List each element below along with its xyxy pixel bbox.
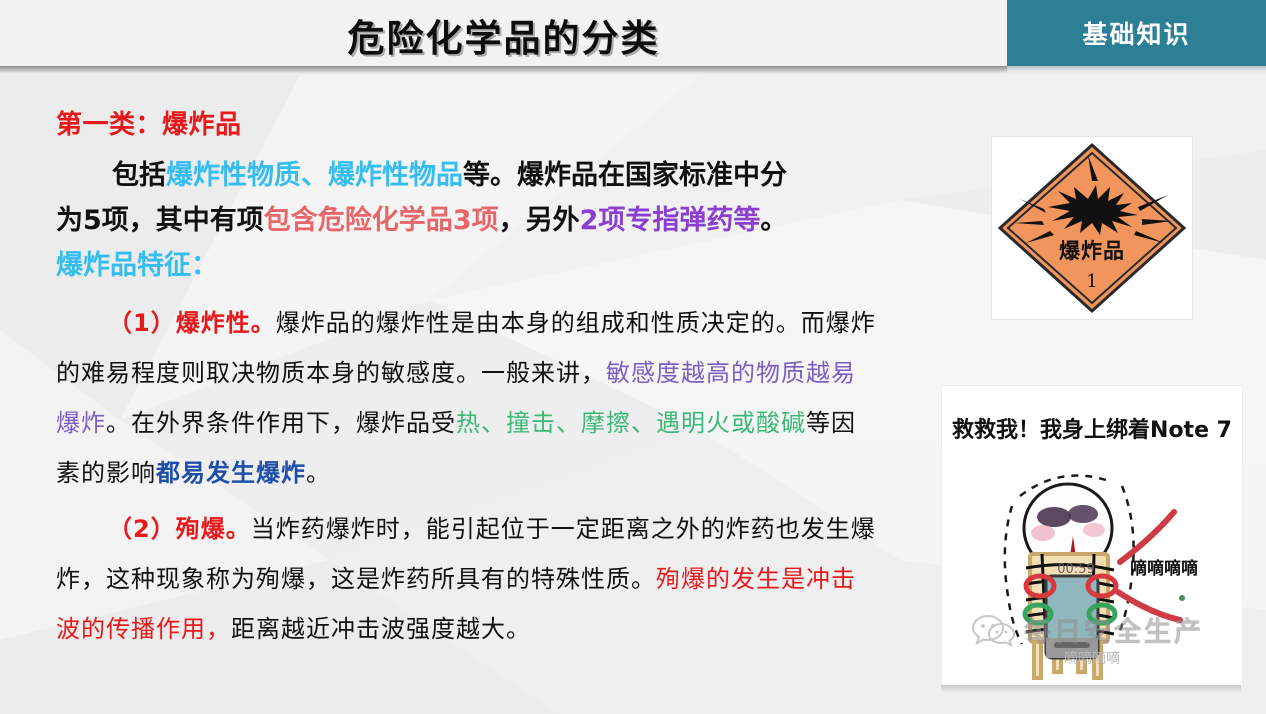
item2-t5: 距离越近冲击波强度越大。 (231, 615, 531, 643)
item1-t8: 素的影响 (56, 459, 156, 487)
header-tag-shadow (1007, 66, 1266, 73)
paragraph-item-1: （1）爆炸性。爆炸品的爆炸性是由本身的组成和性质决定的。而爆炸 的难易程度则取决… (56, 298, 946, 498)
item2-line2: 炸，这种现象称为殉爆，这是炸药所具有的特殊性质。殉爆的发生是冲击 (56, 554, 946, 604)
beep-text: 嘀嘀嘀嘀 (1130, 554, 1198, 579)
item1-t7: 等因 (806, 409, 856, 437)
placard-class-number: 1 (992, 271, 1192, 292)
content-column: 第一类：爆炸品 包括爆炸性物质、爆炸性物品等。爆炸品在国家标准中分 为5项，其中… (56, 104, 946, 654)
item1-label: （1）爆炸性。 (108, 309, 276, 337)
item1-t9: 都易发生爆炸 (156, 458, 306, 487)
intro-s3: 等。爆炸品在国家标准中分 (463, 160, 787, 191)
slide-root: 危险化学品的分类 基础知识 第一类：爆炸品 包括爆炸性物质、爆炸性物品等。爆炸品… (0, 0, 1266, 714)
item1-line4: 素的影响都易发生爆炸。 (56, 448, 946, 498)
header-shadow (0, 66, 1007, 75)
header-category-tag-label: 基础知识 (1082, 15, 1190, 51)
item2-t2: 炸，这种现象称为殉爆，这是炸药所具有的特殊性质。 (56, 565, 656, 593)
paragraph-item-2: （2）殉爆。当炸药爆炸时，能引起位于一定距离之外的炸药也发生爆 炸，这种现象称为… (56, 504, 946, 654)
item1-line3: 爆炸。在外界条件作用下，爆炸品受热、撞击、摩擦、遇明火或酸碱等因 (56, 398, 946, 448)
page-title: 危险化学品的分类 (0, 8, 1007, 62)
section-heading: 第一类：爆炸品 (56, 104, 946, 141)
meme-image: 救救我！我身上绑着Note 7 (941, 385, 1243, 687)
item1-t6: 热、撞击、摩擦、遇明火或酸碱 (456, 409, 806, 437)
item2-t3: 殉爆的发生是冲击 (656, 565, 856, 593)
meme-bottom-faded-text: 嘀嘀嘀嘀 (942, 648, 1242, 668)
placard-label: 爆炸品 (992, 235, 1192, 265)
intro-s6: ，另外 (499, 205, 580, 236)
watermark-text: 每日安全生产 (1024, 610, 1204, 649)
item1-t4: 爆炸 (56, 409, 106, 437)
item2-line1: （2）殉爆。当炸药爆炸时，能引起位于一定距离之外的炸药也发生爆 (56, 504, 946, 554)
item1-t5: 。在外界条件作用下，爆炸品受 (106, 409, 456, 437)
item2-t1: 当炸药爆炸时，能引起位于一定距离之外的炸药也发生爆 (251, 515, 876, 543)
item1-t10: 。 (306, 459, 331, 487)
item1-line2: 的难易程度则取决物质本身的敏感度。一般来讲，敏感度越高的物质越易 (56, 348, 946, 398)
intro-s8: 。 (760, 205, 787, 236)
paragraph-intro: 包括爆炸性物质、爆炸性物品等。爆炸品在国家标准中分 为5项，其中有项包含危险化学… (56, 153, 946, 243)
item2-line3: 波的传播作用，距离越近冲击波强度越大。 (56, 604, 946, 654)
intro-s7: 2项专指弹药等 (580, 205, 761, 236)
meme-shadow (941, 685, 1241, 693)
intro-s4: 为5项，其中有项 (56, 205, 264, 236)
explosive-placard-image: 爆炸品 1 (991, 136, 1193, 320)
intro-s5: 包含危险化学品3项 (264, 205, 499, 236)
item1-t3: 敏感度越高的物质越易 (606, 359, 856, 387)
feature-heading: 爆炸品特征： (56, 243, 946, 288)
item1-t1: 爆炸品的爆炸性是由本身的组成和性质决定的。而爆炸 (276, 309, 876, 337)
wechat-icon (972, 612, 1016, 648)
item1-t2: 的难易程度则取决物质本身的敏感度。一般来讲， (56, 359, 606, 387)
item1-line1: （1）爆炸性。爆炸品的爆炸性是由本身的组成和性质决定的。而爆炸 (56, 298, 946, 348)
paragraph-intro-line1: 包括爆炸性物质、爆炸性物品等。爆炸品在国家标准中分 (56, 153, 946, 198)
wechat-watermark: 每日安全生产 (972, 610, 1242, 649)
paragraph-intro-line2: 为5项，其中有项包含危险化学品3项，另外2项专指弹药等。 (56, 198, 946, 243)
item2-label: （2）殉爆。 (108, 515, 251, 543)
header-category-tag: 基础知识 (1007, 0, 1266, 66)
item2-t4: 波的传播作用， (56, 615, 231, 643)
intro-s1: 包括 (112, 160, 166, 191)
phone-timer: 00:59 (1046, 562, 1106, 577)
intro-s2: 爆炸性物质、爆炸性物品 (166, 160, 463, 191)
